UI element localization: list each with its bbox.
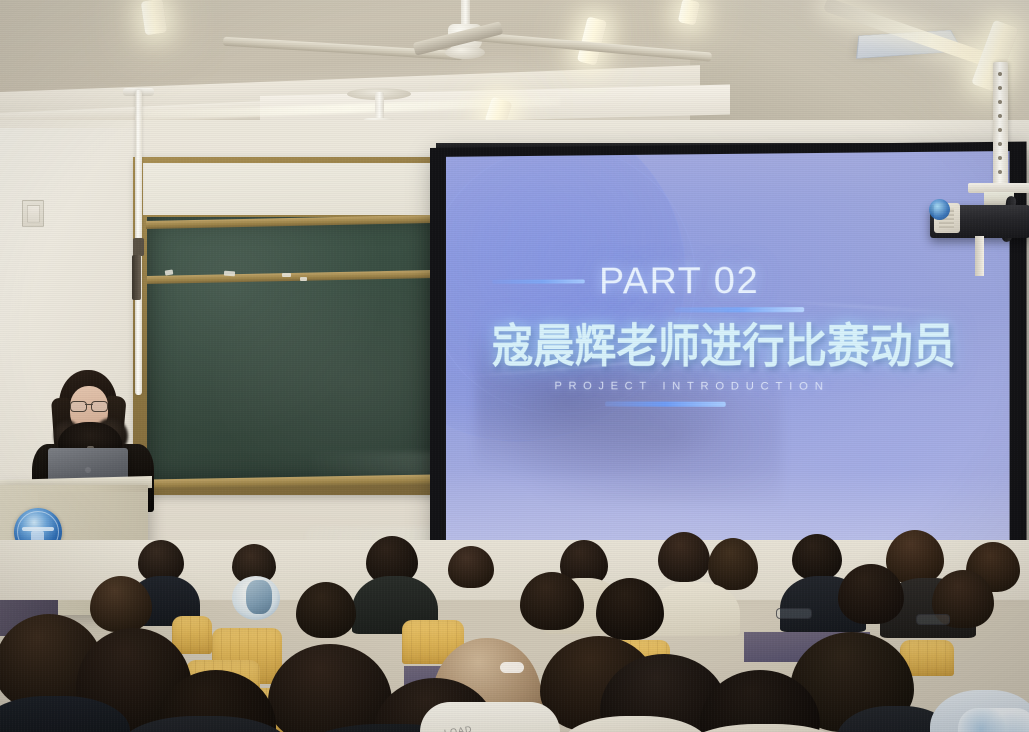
pull-rod-clip: [133, 238, 144, 256]
projector-mount-pole: [993, 62, 1008, 184]
blackboard: [147, 217, 430, 482]
chalk-piece[interactable]: [224, 271, 235, 277]
audience-head: [520, 572, 584, 630]
chalk-piece[interactable]: [282, 273, 291, 277]
wall-light-switch[interactable]: [22, 200, 44, 227]
audience-head: [268, 644, 392, 732]
fluorescent-tube-left-icon: [141, 0, 168, 35]
blackboard-upper-panel: [143, 163, 433, 215]
audience-glasses-icon: [916, 614, 950, 625]
chalk-piece[interactable]: [300, 277, 307, 281]
audience-head: [838, 564, 904, 624]
audience-head: [658, 532, 710, 582]
accent-line-lower: [605, 401, 726, 406]
audience-glasses-icon: [776, 608, 812, 619]
audience-head: [296, 582, 356, 638]
audience-head: [708, 538, 758, 590]
audience-head: [596, 578, 664, 640]
glasses-icon: [70, 401, 108, 410]
classroom-photo-scene: PART 02 寇晨辉老师进行比赛动员 PROJECT INTRODUCTION: [0, 0, 1029, 732]
audience-head: [90, 576, 152, 632]
audience-area: LOAD LOADE: [0, 520, 1029, 732]
projector-support-rod: [975, 236, 984, 276]
slide-part-label: PART 02: [599, 259, 759, 302]
audience-patterned-jacket: [958, 708, 1029, 732]
audience-head: [448, 546, 494, 588]
pull-rod-handle[interactable]: [132, 255, 141, 300]
audience-hoodie: [420, 702, 560, 732]
fan-hub: [445, 46, 485, 59]
audience-beanie-tag: [500, 662, 524, 673]
slide-text-block: PART 02 寇晨辉老师进行比赛动员 PROJECT INTRODUCTION: [492, 258, 976, 407]
slide-main-title: 寇晨辉老师进行比赛动员: [492, 307, 976, 376]
projector-logo: [929, 199, 950, 220]
ceiling-fan-upper-icon: [455, 0, 475, 64]
projected-slide: PART 02 寇晨辉老师进行比赛动员 PROJECT INTRODUCTION: [446, 151, 1010, 555]
audience-scarf-pattern: [246, 580, 272, 614]
slide-sub-title: PROJECT INTRODUCTION: [554, 380, 975, 393]
accent-line-left: [492, 279, 585, 283]
slide-part-row: PART 02: [492, 258, 976, 302]
audience-head: [792, 534, 842, 580]
